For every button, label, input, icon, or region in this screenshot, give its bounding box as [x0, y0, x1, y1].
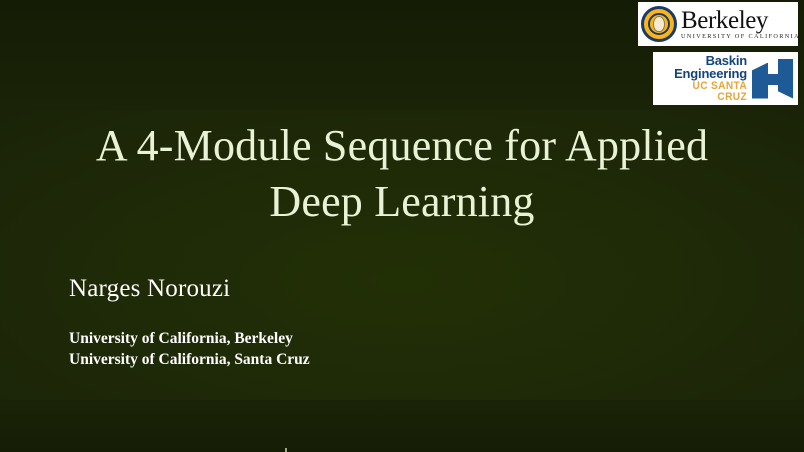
affiliation-line-2: University of California, Santa Cruz	[69, 349, 310, 370]
slide-title: A 4-Module Sequence for Applied Deep Lea…	[0, 118, 804, 230]
ucsc-engineering-label: Engineering	[657, 67, 747, 80]
berkeley-wordmark: Berkeley UNIVERSITY OF CALIFORNIA	[681, 8, 798, 40]
ucsc-baskin-engineering-logo: Baskin Engineering UC SANTA CRUZ	[653, 52, 798, 105]
berkeley-logo: Berkeley UNIVERSITY OF CALIFORNIA	[638, 2, 798, 46]
ucsc-banner-mark-icon	[751, 57, 795, 101]
berkeley-name: Berkeley	[681, 8, 798, 33]
ucsc-mark-middle-bar	[767, 74, 779, 85]
cursor-artifact	[285, 448, 287, 452]
presentation-title-slide: Berkeley UNIVERSITY OF CALIFORNIA Baskin…	[0, 0, 804, 452]
slide-title-line-2: Deep Learning	[40, 174, 764, 230]
berkeley-seal-icon	[641, 6, 677, 42]
background-band-bottom	[0, 400, 804, 452]
ucsc-santa-cruz-label: UC SANTA CRUZ	[664, 81, 747, 103]
ucsc-baskin-label: Baskin	[657, 54, 747, 67]
berkeley-subtitle: UNIVERSITY OF CALIFORNIA	[681, 34, 798, 40]
slide-title-line-1: A 4-Module Sequence for Applied	[40, 118, 764, 174]
ucsc-mark-left-bar	[752, 63, 768, 99]
affiliation-line-1: University of California, Berkeley	[69, 328, 310, 349]
ucsc-wordmark: Baskin Engineering UC SANTA CRUZ	[657, 54, 747, 104]
presenter-affiliations: University of California, Berkeley Unive…	[69, 328, 310, 371]
presenter-name: Narges Norouzi	[69, 275, 230, 303]
ucsc-mark-right-bar	[778, 59, 793, 99]
